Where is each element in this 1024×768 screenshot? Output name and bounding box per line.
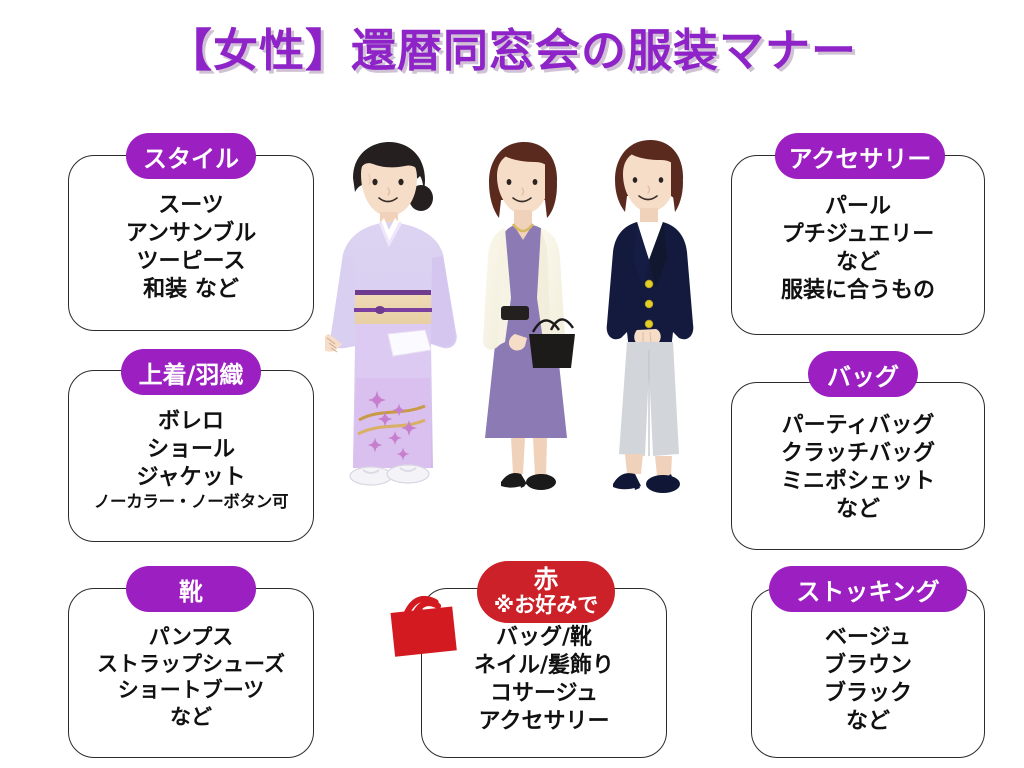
card-shoes-line-2: ストラップシューズ — [60, 651, 322, 678]
card-accessory-line-4: 服装に合うもの — [727, 277, 989, 305]
card-red-line-4: アクセサリー — [421, 708, 667, 736]
card-bag-line-4: など — [727, 496, 989, 524]
badge-outerwear-label: 上着/羽織 — [139, 355, 244, 390]
card-red-line-3: コサージュ — [421, 680, 667, 708]
figure-dress-cardigan-woman — [483, 142, 575, 490]
card-shoes-body: パンプス ストラップシューズ ショートブーツ など — [60, 624, 322, 731]
badge-bag: バッグ — [808, 351, 918, 397]
card-shoes-line-4: など — [60, 704, 322, 731]
card-stockings-line-3: ブラック — [751, 680, 985, 708]
illustration-three-women — [325, 138, 725, 538]
card-accessory-line-1: パール — [727, 193, 989, 221]
card-bag-line-2: クラッチバッグ — [727, 440, 989, 468]
badge-accessory-label: アクセサリー — [789, 139, 932, 174]
card-stockings-line-2: ブラウン — [751, 652, 985, 680]
badge-shoes: 靴 — [126, 566, 256, 612]
infographic-canvas: 【女性】還暦同窓会の服装マナー — [0, 0, 1024, 768]
badge-outerwear: 上着/羽織 — [121, 349, 261, 395]
card-outerwear-line-1: ボレロ — [68, 408, 314, 436]
card-style-line-2: アンサンブル — [68, 220, 314, 248]
card-style-line-4: 和装 など — [68, 276, 314, 304]
card-outerwear-line-2: ショール — [68, 436, 314, 464]
page-title: 【女性】還暦同窓会の服装マナー — [0, 14, 1024, 79]
card-accessory-line-2: プチジュエリー — [727, 221, 989, 249]
figure-kimono-woman — [325, 142, 457, 485]
badge-style: スタイル — [126, 133, 256, 179]
badge-stockings: ストッキング — [769, 566, 967, 612]
card-bag-line-3: ミニポシェット — [727, 468, 989, 496]
badge-accessory: アクセサリー — [775, 133, 945, 179]
card-stockings-line-4: など — [751, 708, 985, 736]
badge-stockings-label: ストッキング — [796, 572, 939, 607]
card-outerwear-body: ボレロ ショール ジャケット ノーカラー・ノーボタン可 — [68, 408, 314, 513]
card-style-body: スーツ アンサンブル ツーピース 和装 など — [68, 192, 314, 304]
card-stockings-line-1: ベージュ — [751, 624, 985, 652]
card-accessory-body: パール プチジュエリー など 服装に合うもの — [727, 193, 989, 305]
card-shoes-line-3: ショートブーツ — [60, 677, 322, 704]
card-outerwear-note: ノーカラー・ノーボタン可 — [68, 492, 314, 513]
badge-shoes-label: 靴 — [179, 572, 203, 607]
figure-navy-jacket-woman — [607, 140, 694, 493]
card-shoes-line-1: パンプス — [60, 624, 322, 651]
card-bag-body: パーティバッグ クラッチバッグ ミニポシェット など — [727, 412, 989, 524]
badge-style-label: スタイル — [143, 139, 239, 174]
card-stockings-body: ベージュ ブラウン ブラック など — [751, 624, 985, 736]
card-bag-line-1: パーティバッグ — [727, 412, 989, 440]
card-accessory-line-3: など — [727, 249, 989, 277]
card-outerwear-line-3: ジャケット — [68, 464, 314, 492]
red-handbag-icon — [386, 585, 472, 665]
badge-red-label-secondary: ※お好みで — [494, 594, 598, 618]
badge-red-label-primary: 赤 — [533, 566, 558, 594]
card-style-line-3: ツーピース — [68, 248, 314, 276]
badge-bag-label: バッグ — [827, 357, 899, 392]
card-style-line-1: スーツ — [68, 192, 314, 220]
badge-red: 赤 ※お好みで — [477, 561, 615, 623]
